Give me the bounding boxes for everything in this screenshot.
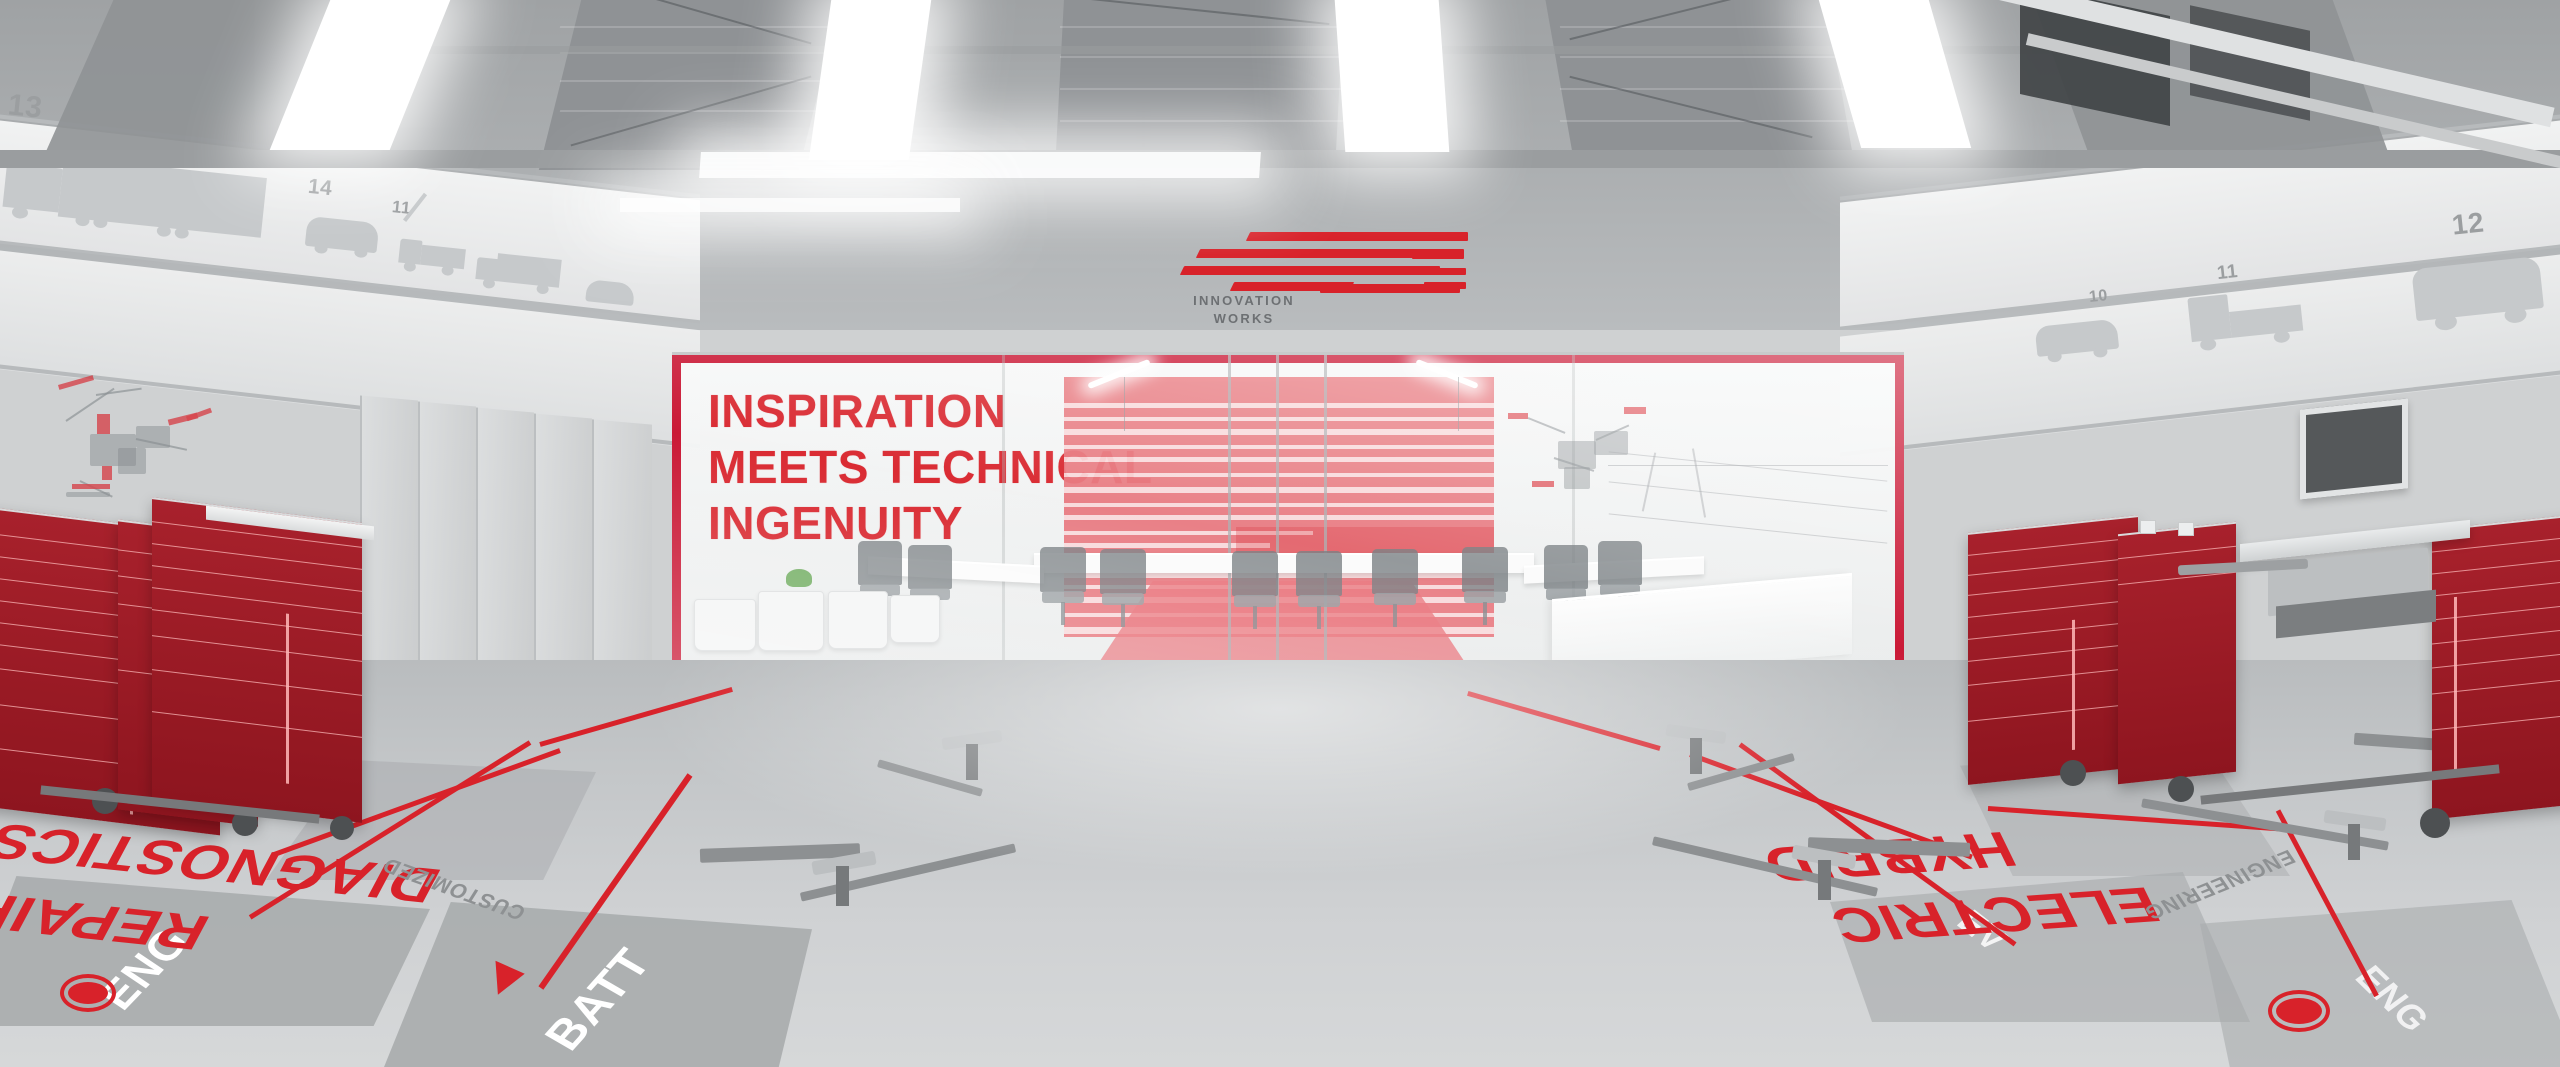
bay-number-11-right: 11 <box>2216 261 2239 285</box>
vehicle-lift-left <box>700 718 1120 908</box>
lounge-chair <box>828 591 888 649</box>
red-lintel <box>672 355 1904 363</box>
cabinet-caster <box>330 816 354 840</box>
lounge-chair <box>758 591 824 651</box>
silhouette-crane-truck <box>393 214 475 280</box>
silhouette-van <box>304 208 389 264</box>
wall-monitor[interactable] <box>2300 398 2408 499</box>
lounge-chair <box>694 599 756 651</box>
wall-outlet[interactable] <box>2178 522 2194 536</box>
bay-number-13: 13 <box>6 88 44 125</box>
silhouette-box-truck <box>474 245 575 305</box>
floor-target-right <box>2268 990 2330 1032</box>
logo-line-1: INNOVATION <box>1160 292 1328 310</box>
conference-chair <box>1372 549 1418 627</box>
wall-outlet[interactable] <box>2140 520 2156 534</box>
silhouette-flatbed-truck <box>2181 281 2317 360</box>
tool-cabinet-right-1[interactable] <box>1968 515 2138 785</box>
vehicle-lift-right <box>1540 712 1970 902</box>
bay-number-12: 12 <box>2450 206 2485 241</box>
cabinet-caster <box>2060 760 2086 786</box>
conference-chair <box>1462 547 1508 625</box>
red-door-jamb-left <box>672 355 681 673</box>
potted-plant <box>786 569 812 587</box>
glass-mullion-1 <box>1228 355 1231 673</box>
red-door-jamb-right <box>1895 355 1904 673</box>
silhouette-car-right <box>2410 245 2558 339</box>
lounge-side-table <box>890 595 940 643</box>
conference-chair <box>1040 547 1086 625</box>
logo-text: INNOVATION WORKS <box>1160 292 1328 327</box>
conference-chair <box>1232 551 1278 629</box>
logo-line-2: WORKS <box>1160 310 1328 328</box>
left-door-panels <box>360 390 690 680</box>
conference-chair <box>1100 549 1146 627</box>
conference-room-glass-box: INSPIRATION MEETS TECHNICAL INGENUITY <box>672 352 1904 673</box>
silhouette-pig <box>584 275 643 315</box>
silhouette-van-right <box>2034 309 2135 369</box>
corridor-rail-wall <box>1608 465 1888 586</box>
conference-chair <box>1296 551 1342 629</box>
cabinet-caster <box>2168 776 2194 802</box>
garage-interior-render: 13 14 11 <box>0 0 2560 1067</box>
tool-cabinet-right-2[interactable] <box>2118 522 2236 784</box>
tool-cabinet-left-3[interactable] <box>152 497 362 823</box>
floor-target-left <box>60 974 116 1012</box>
bay-number-10: 10 <box>2088 287 2109 307</box>
reception-counter <box>1552 573 1852 673</box>
innovation-works-logo: INNOVATION WORKS <box>1160 232 1440 324</box>
wall-diagram-left <box>40 376 250 526</box>
bay-number-14: 14 <box>307 175 334 201</box>
cabinet-caster <box>2420 808 2450 838</box>
